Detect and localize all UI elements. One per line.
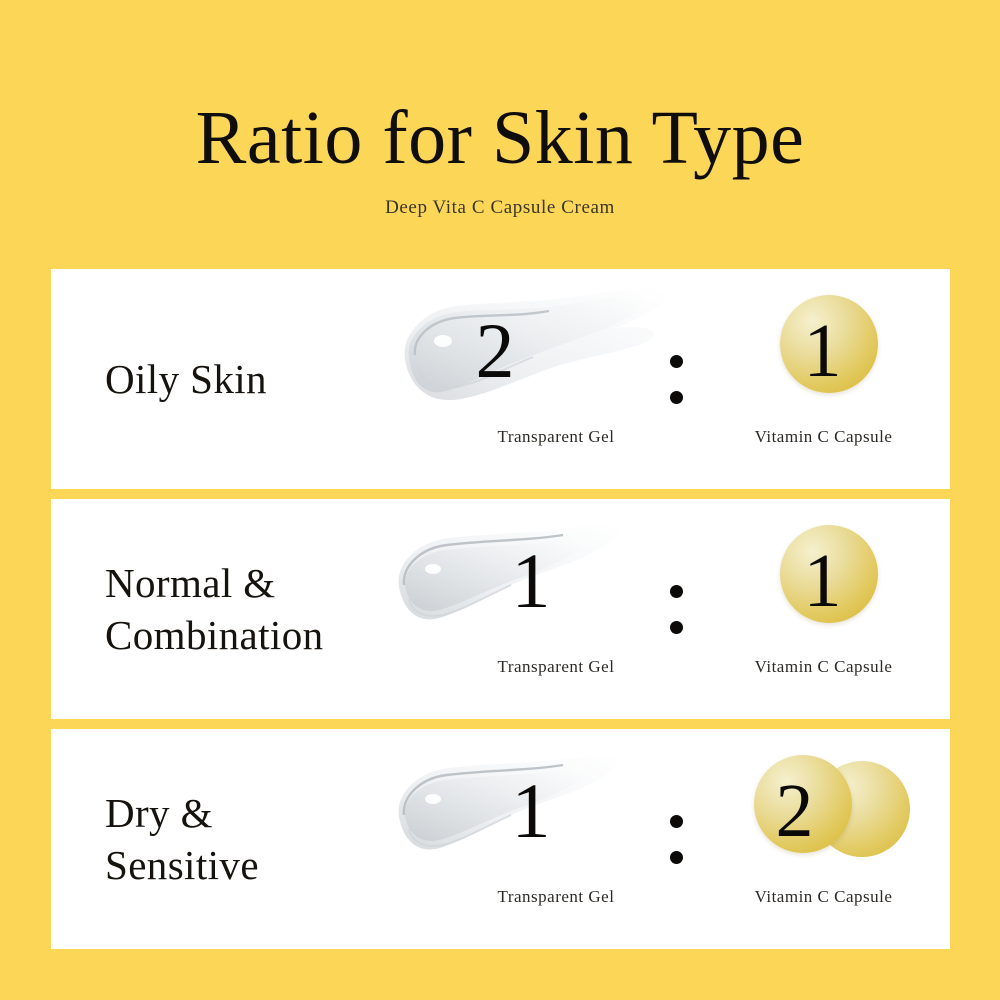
page-subtitle: Deep Vita C Capsule Cream [0, 196, 1000, 220]
page-header: Ratio for Skin Type Deep Vita C Capsule … [0, 0, 1000, 269]
skin-type-label: Oily Skin [105, 269, 435, 489]
page-title: Ratio for Skin Type [0, 96, 1000, 180]
ratio-separator [651, 269, 701, 489]
colon-dot-bottom [670, 621, 683, 634]
capsule-caption: Vitamin C Capsule [696, 427, 950, 447]
ratio-card-list: Oily Skin [51, 269, 950, 959]
capsule-component: 1 Vitamin C Capsule [696, 269, 950, 489]
ratio-row-dry-sensitive[interactable]: Dry & Sensitive [51, 729, 950, 949]
skin-type-label-line1: Oily Skin [105, 353, 435, 405]
ratio-row-oily-skin[interactable]: Oily Skin [51, 269, 950, 489]
colon-dot-bottom [670, 391, 683, 404]
colon-dot-bottom [670, 851, 683, 864]
skin-type-label-line2: Combination [105, 609, 435, 661]
colon-dot-top [670, 355, 683, 368]
skin-type-label-line1: Normal & [105, 557, 435, 609]
capsule-amount: 1 [696, 281, 950, 421]
skin-type-label-line2: Sensitive [105, 839, 435, 891]
ratio-separator [651, 499, 701, 719]
capsule-amount: 1 [696, 511, 950, 651]
capsule-caption: Vitamin C Capsule [696, 657, 950, 677]
skin-type-label: Normal & Combination [105, 499, 435, 719]
capsule-component: 2 Vitamin C Capsule [696, 729, 950, 949]
capsule-component: 1 Vitamin C Capsule [696, 499, 950, 719]
skin-type-label: Dry & Sensitive [105, 729, 435, 949]
ratio-row-normal-combination[interactable]: Normal & Combination [51, 499, 950, 719]
capsule-amount: 2 [696, 741, 950, 881]
colon-dot-top [670, 815, 683, 828]
colon-dot-top [670, 585, 683, 598]
capsule-caption: Vitamin C Capsule [696, 887, 950, 907]
skin-type-label-line1: Dry & [105, 787, 435, 839]
ratio-separator [651, 729, 701, 949]
